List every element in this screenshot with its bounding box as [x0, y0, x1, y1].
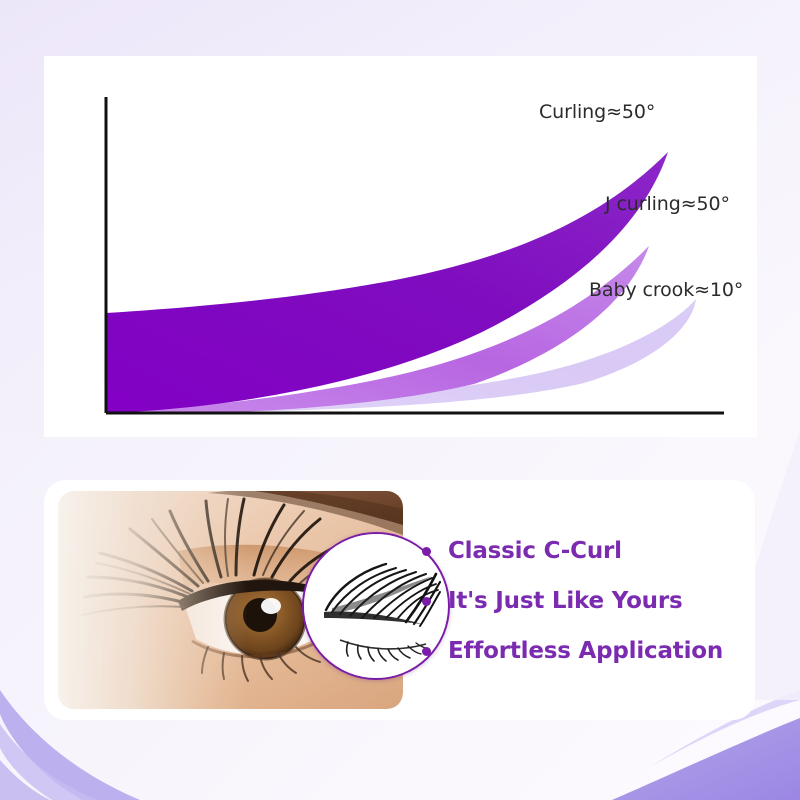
- list-item[interactable]: It's Just Like Yours: [422, 576, 742, 626]
- feature-bullet-label: Effortless Application: [448, 638, 723, 664]
- chart-annotation-baby-crook: Baby crook≈10°: [589, 279, 743, 301]
- feature-bullet-label: It's Just Like Yours: [448, 588, 683, 614]
- chart-annotation-curling: Curling≈50°: [539, 101, 655, 123]
- feature-card: Classic C-Curl It's Just Like Yours Effo…: [44, 480, 755, 720]
- feature-bullet-label: Classic C-Curl: [448, 538, 622, 564]
- feature-bullet-list: Classic C-Curl It's Just Like Yours Effo…: [422, 526, 742, 676]
- list-item[interactable]: Effortless Application: [422, 626, 742, 676]
- chart-card: Curling≈50° J curling≈50° Baby crook≈10°: [44, 56, 757, 437]
- chart-annotation-j-curling: J curling≈50°: [605, 193, 730, 215]
- infographic-stage: Curling≈50° J curling≈50° Baby crook≈10°: [0, 0, 800, 800]
- bullet-dot-icon: [422, 597, 431, 606]
- list-item[interactable]: Classic C-Curl: [422, 526, 742, 576]
- bullet-dot-icon: [422, 647, 431, 656]
- bullet-dot-icon: [422, 547, 431, 556]
- bg-corner-bottom-right: [612, 718, 800, 800]
